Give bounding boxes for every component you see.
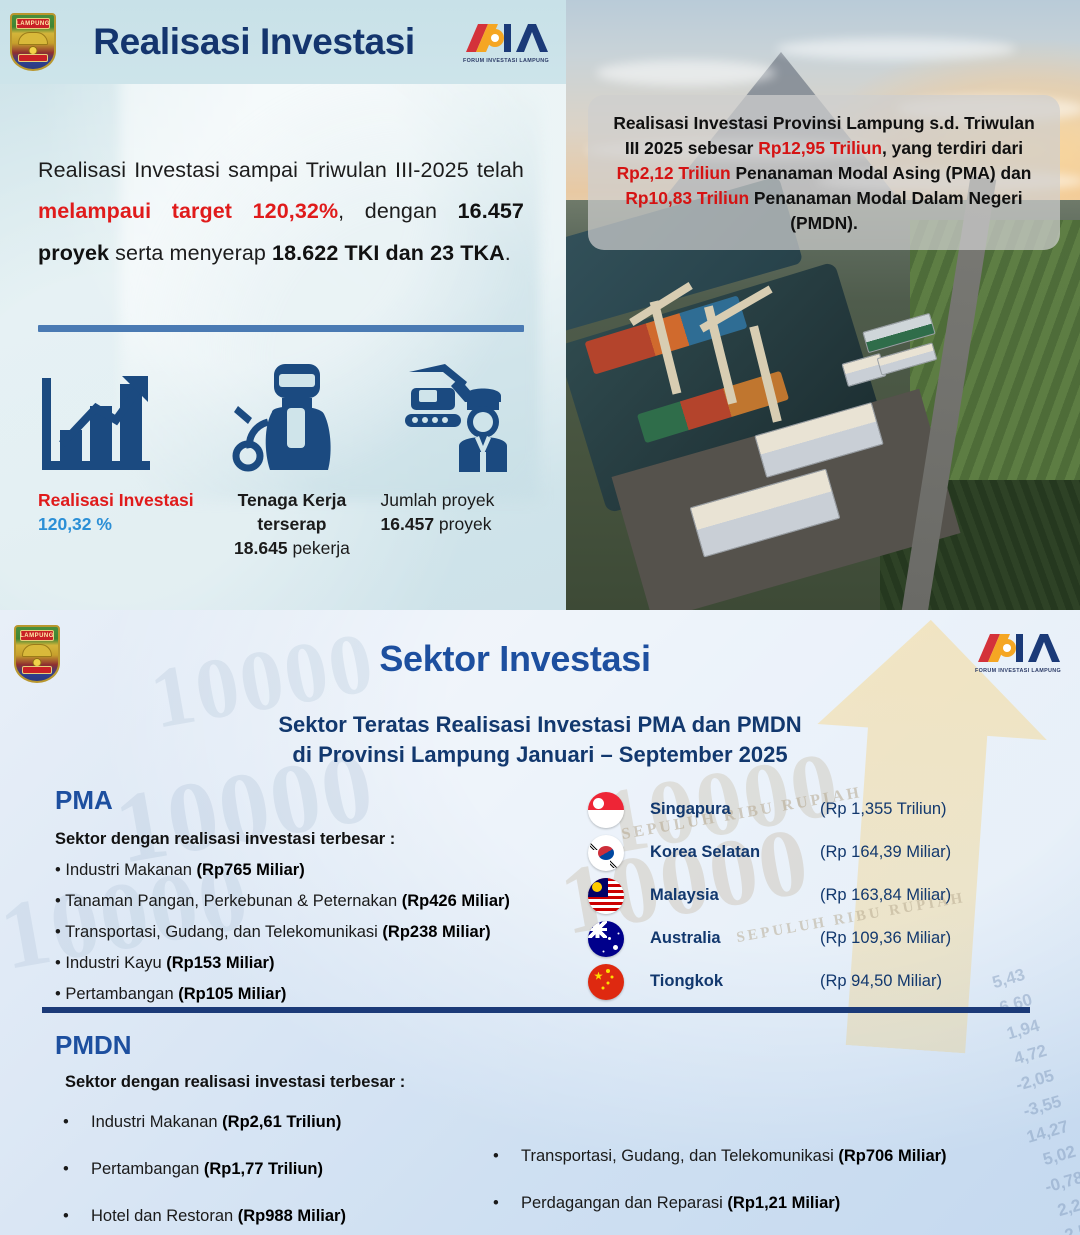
fola-logo-subtitle: FORUM INVESTASI LAMPUNG [458, 58, 554, 64]
list-item: Perdagangan dan Reparasi (Rp1,21 Miliar) [485, 1191, 1025, 1216]
pmdn-block: PMDN Sektor dengan realisasi investasi t… [55, 1030, 1035, 1235]
stat1-label: Realisasi Investasi [38, 488, 203, 512]
subtitle-line2: di Provinsi Lampung Januari – September … [0, 740, 1080, 770]
callout-pma: Rp2,12 Triliun [617, 163, 731, 183]
fola-logo-icon-2: FORUM INVESTASI LAMPUNG [970, 628, 1066, 676]
stat-realisasi-investasi: Realisasi Investasi 120,32 % [38, 360, 203, 560]
list-item: Australia (Rp 109,36 Miliar) [588, 917, 1008, 960]
list-item: Industri Kayu (Rp153 Miliar) [55, 951, 615, 976]
port-aerial-photo: Realisasi Investasi Provinsi Lampung s.d… [566, 0, 1080, 610]
pmdn-c2-item-0-name: Transportasi, Gudang, dan Telekomunikasi [521, 1147, 838, 1165]
callout-pmdn: Rp10,83 Triliun [625, 188, 749, 208]
section1-lead-text: Realisasi Investasi sampai Triwulan III-… [38, 150, 524, 274]
pmdn-column-left: Industri Makanan (Rp2,61 Triliun) Pertam… [55, 1110, 485, 1235]
pma-title: PMA [55, 785, 615, 816]
country-3-name: Australia [650, 929, 820, 948]
callout-t4: Penanaman Modal Dalam Negeri (PMDN). [749, 188, 1023, 233]
lead-highlight: melampaui target 120,32% [38, 199, 338, 223]
section2-divider [42, 1007, 1030, 1013]
lampung-emblem-icon: LAMPUNG [10, 13, 56, 71]
country-1-name: Korea Selatan [650, 843, 820, 862]
section-sektor-investasi: 10000 10000 10000 10000 10000 SEPULUH RI… [0, 610, 1080, 1235]
country-2-value: (Rp 163,84 Miliar) [820, 886, 951, 905]
pma-item-2-value: (Rp238 Miliar) [382, 923, 490, 941]
singapore-flag-icon [588, 792, 624, 828]
pmdn-c1-item-2-name: Hotel dan Restoran [91, 1207, 238, 1225]
section2-header: LAMPUNG Sektor Investasi FORUM INVESTASI… [0, 610, 1080, 694]
list-item: Industri Makanan (Rp765 Miliar) [55, 858, 615, 883]
country-0-name: Singapura [650, 800, 820, 819]
list-item: Industri Makanan (Rp2,61 Triliun) [55, 1110, 485, 1135]
country-3-value: (Rp 109,36 Miliar) [820, 929, 951, 948]
pma-lead: Sektor dengan realisasi investasi terbes… [55, 830, 615, 849]
section1-stats: Realisasi Investasi 120,32 % [38, 360, 538, 560]
pma-item-1-name: Tanaman Pangan, Perkebunan & Peternakan [65, 892, 402, 910]
country-0-value: (Rp 1,355 Triliun) [820, 800, 947, 819]
pmdn-title: PMDN [55, 1030, 1035, 1061]
welder-worker-icon [203, 360, 380, 478]
stat3-unit: proyek [434, 514, 491, 534]
pmdn-c1-item-0-value: (Rp2,61 Triliun) [222, 1113, 341, 1131]
callout-t3: Penanaman Modal Asing (PMA) dan [731, 163, 1032, 183]
pma-sector-list: Industri Makanan (Rp765 Miliar) Tanaman … [55, 858, 615, 1007]
pma-item-4-value: (Rp105 Miliar) [178, 985, 286, 1003]
pma-item-1-value: (Rp426 Miliar) [402, 892, 510, 910]
section1-divider [38, 325, 524, 332]
pma-item-0-name: Industri Makanan [65, 861, 196, 879]
list-item: Transportasi, Gudang, dan Telekomunikasi… [55, 920, 615, 945]
pmdn-c2-item-1-name: Perdagangan dan Reparasi [521, 1194, 727, 1212]
callout-total: Rp12,95 Triliun [758, 138, 882, 158]
emblem-label-2: LAMPUNG [20, 630, 54, 641]
pmdn-lead: Sektor dengan realisasi investasi terbes… [65, 1073, 1035, 1092]
pmdn-c1-item-1-value: (Rp1,77 Triliun) [204, 1160, 323, 1178]
stat-tenaga-kerja: Tenaga Kerja terserap 18.645 pekerja [203, 360, 380, 560]
stat3-label: Jumlah proyek [381, 488, 538, 512]
fola-logo-subtitle-2: FORUM INVESTASI LAMPUNG [970, 668, 1066, 674]
list-item: Tanaman Pangan, Perkebunan & Peternakan … [55, 889, 615, 914]
callout-box: Realisasi Investasi Provinsi Lampung s.d… [588, 95, 1060, 250]
section2-title: Sektor Investasi [60, 638, 970, 680]
lead-part4: . [505, 241, 511, 265]
malaysia-flag-icon [588, 878, 624, 914]
lead-part2: , dengan [338, 199, 457, 223]
lampung-emblem-icon-2: LAMPUNG [14, 625, 60, 683]
list-item: Hotel dan Restoran (Rp988 Miliar) [55, 1204, 485, 1229]
section2-subtitle: Sektor Teratas Realisasi Investasi PMA d… [0, 710, 1080, 771]
pmdn-c1-item-0-name: Industri Makanan [91, 1113, 222, 1131]
section1-left-panel: LAMPUNG Realisasi Investasi [0, 0, 566, 610]
stat2-unit: pekerja [288, 538, 350, 558]
lead-part1: Realisasi Investasi sampai Triwulan III-… [38, 158, 524, 182]
country-4-value: (Rp 94,50 Miliar) [820, 972, 942, 991]
pma-item-3-name: Industri Kayu [65, 954, 166, 972]
pma-country-list: Singapura (Rp 1,355 Triliun) Korea Selat… [588, 788, 1008, 1003]
pma-block: PMA Sektor dengan realisasi investasi te… [55, 785, 615, 1013]
section1-header: LAMPUNG Realisasi Investasi [0, 0, 566, 84]
stat3-value: 16.457 [381, 514, 435, 534]
china-flag-icon [588, 964, 624, 1000]
stat2-value: 18.645 [234, 538, 288, 558]
fola-logo-icon: FORUM INVESTASI LAMPUNG [458, 18, 554, 66]
pmdn-c2-item-1-value: (Rp1,21 Miliar) [727, 1194, 840, 1212]
list-item: Transportasi, Gudang, dan Telekomunikasi… [485, 1144, 1025, 1169]
subtitle-line1: Sektor Teratas Realisasi Investasi PMA d… [0, 710, 1080, 740]
pma-item-4-name: Pertambangan [65, 985, 178, 1003]
stat1-value: 120,32 % [38, 512, 203, 536]
list-item: Singapura (Rp 1,355 Triliun) [588, 788, 1008, 831]
list-item: Tiongkok (Rp 94,50 Miliar) [588, 960, 1008, 1003]
excavator-engineer-icon [381, 360, 538, 478]
pmdn-c1-item-2-value: (Rp988 Miliar) [238, 1207, 346, 1225]
country-1-value: (Rp 164,39 Miliar) [820, 843, 951, 862]
pmdn-c2-item-0-value: (Rp706 Miliar) [838, 1147, 946, 1165]
emblem-label: LAMPUNG [16, 18, 50, 29]
section-realisasi-investasi: LAMPUNG Realisasi Investasi [0, 0, 1080, 610]
list-item: Korea Selatan (Rp 164,39 Miliar) [588, 831, 1008, 874]
pma-item-2-name: Transportasi, Gudang, dan Telekomunikasi [65, 923, 382, 941]
infographic-page: LAMPUNG Realisasi Investasi [0, 0, 1080, 1235]
stat2-label: Tenaga Kerja terserap [203, 488, 380, 536]
country-4-name: Tiongkok [650, 972, 820, 991]
list-item: Pertambangan (Rp1,77 Triliun) [55, 1157, 485, 1182]
stat-jumlah-proyek: Jumlah proyek 16.457 proyek [381, 360, 538, 560]
list-item: Pertambangan (Rp105 Miliar) [55, 982, 615, 1007]
country-2-name: Malaysia [650, 886, 820, 905]
pma-item-0-value: (Rp765 Miliar) [197, 861, 305, 879]
lead-part3: serta menyerap [109, 241, 272, 265]
list-item: Malaysia (Rp 163,84 Miliar) [588, 874, 1008, 917]
pmdn-column-right: Transportasi, Gudang, dan Telekomunikasi… [485, 1110, 1025, 1235]
pma-item-3-value: (Rp153 Miliar) [166, 954, 274, 972]
bar-chart-growth-icon [38, 360, 203, 478]
lead-bold-workers: 18.622 TKI dan 23 TKA [272, 241, 505, 265]
pmdn-c1-item-1-name: Pertambangan [91, 1160, 204, 1178]
australia-flag-icon [588, 921, 624, 957]
south-korea-flag-icon [588, 835, 624, 871]
callout-t2: , yang terdiri dari [882, 138, 1023, 158]
page-title: Realisasi Investasi [50, 21, 458, 63]
